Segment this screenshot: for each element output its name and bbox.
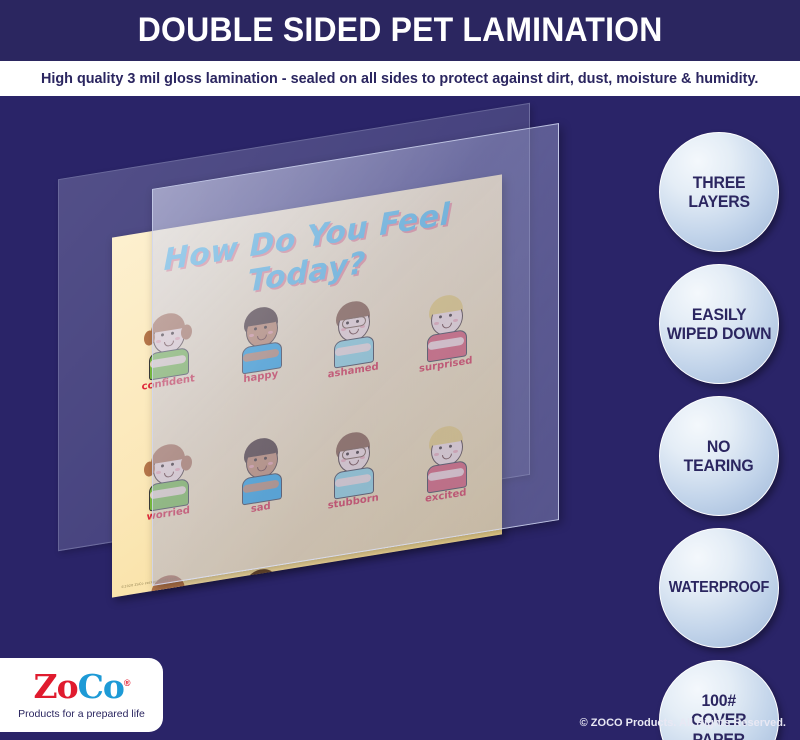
logo-co-text: Co (78, 667, 124, 706)
feature-badge-text: THREELAYERS (688, 173, 750, 211)
feature-badge-text: EASILYWIPED DOWN (667, 305, 771, 343)
feature-badge-line: 100# (691, 691, 746, 710)
feature-badge: THREELAYERS (659, 132, 779, 252)
copyright-notice: © ZOCO Products. All Rights Reserved. (580, 717, 786, 729)
feature-badge: WATERPROOF (659, 528, 779, 648)
feature-badge-line: EASILY (667, 305, 771, 324)
feature-badge-line: NO (684, 437, 754, 456)
subtitle-text: High quality 3 mil gloss lamination - se… (41, 70, 758, 87)
feature-badge-text: WATERPROOF (669, 579, 769, 596)
feature-badge-line: LAYERS (688, 192, 750, 211)
logo-tagline: Products for a prepared life (18, 708, 145, 720)
feature-badge: EASILYWIPED DOWN (659, 264, 779, 384)
product-illustration-stage: How Do You Feel Today? confidenthappyash… (0, 96, 800, 740)
header-banner: DOUBLE SIDED PET LAMINATION (0, 0, 800, 61)
logo-wordmark: ZoCo® (33, 670, 129, 703)
registered-trademark-icon: ® (124, 678, 130, 688)
feature-badge-text: NOTEARING (684, 437, 754, 475)
feature-badge-line: TEARING (684, 456, 754, 475)
emotion-figure-icon (327, 559, 379, 597)
feature-badge-text: 100#COVERPAPER (691, 691, 746, 740)
feature-badge: NOTEARING (659, 396, 779, 516)
laminate-sheet-front (152, 123, 559, 586)
logo-zo-text: Zo (33, 667, 77, 706)
feature-badge-line: WATERPROOF (669, 579, 769, 596)
feature-badge-line: WIPED DOWN (667, 324, 771, 343)
page-title: DOUBLE SIDED PET LAMINATION (138, 11, 663, 50)
emotion-figure-icon (420, 553, 472, 597)
feature-badge-list: THREELAYERSEASILYWIPED DOWNNOTEARINGWATE… (652, 132, 784, 740)
feature-badge-line: PAPER (691, 730, 746, 740)
feature-badge-line: THREE (688, 173, 750, 192)
subtitle-bar: High quality 3 mil gloss lamination - se… (0, 61, 800, 96)
brand-logo: ZoCo® Products for a prepared life (0, 658, 163, 732)
